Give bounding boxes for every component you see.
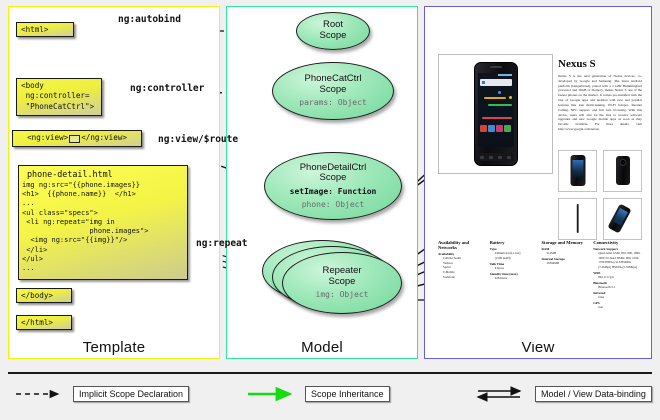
thumb-angled-icon: [607, 204, 631, 234]
legend-label-data-binding: Model / View Data-binding: [535, 386, 652, 402]
legend-divider: [8, 372, 652, 374]
spec-val-infrared: false: [598, 295, 642, 300]
spec-header-battery: Battery: [490, 240, 539, 245]
scope-repeater-title-2: Scope: [329, 277, 356, 288]
nav-button-3: [498, 156, 502, 159]
spec-val-gps: true: [598, 305, 642, 310]
thumbnail-grid: [558, 150, 642, 246]
panel-label-template: Template: [9, 339, 219, 356]
code-body-close[interactable]: </body>: [16, 288, 72, 303]
legend-label-implicit-scope: Implicit Scope Declaration: [73, 386, 189, 402]
spec-val-bluetooth: Bluetooth 2.1: [598, 285, 642, 290]
product-title: Nexus S: [558, 58, 596, 70]
phone-screen: [478, 73, 514, 147]
legend-item-scope-inheritance: Scope Inheritance: [246, 386, 390, 402]
green-arrow-icon: [246, 386, 298, 402]
spec-val-internal: 16384MB: [547, 261, 591, 266]
legend: Implicit Scope Declaration Scope Inherit…: [8, 372, 652, 412]
double-arrow-icon: [476, 386, 528, 402]
spec-val-network: Quad-band GSM: 850, 900, 1800, 1900 Tri-…: [598, 251, 642, 270]
thumbnail-phone-front[interactable]: [558, 150, 597, 192]
thumbnail-row-2: [558, 198, 642, 240]
screen-bar-orange: [484, 97, 506, 99]
edge-label-repeat: ng:repeat: [196, 238, 247, 249]
legend-item-implicit-scope: Implicit Scope Declaration: [14, 386, 189, 402]
scope-cat-prop-params: params: Object: [299, 98, 366, 108]
thumb-edge-icon: [576, 204, 579, 233]
thumbnail-phone-back[interactable]: [603, 150, 642, 192]
scope-detail-prop-phone: phone: Object: [302, 200, 365, 210]
main-phone-photo[interactable]: [438, 54, 553, 174]
app-icon-3: [496, 125, 503, 132]
thumb-front-icon: [570, 155, 585, 186]
phone-speaker: [490, 66, 502, 68]
specs-table: Availability and Networks Availability C…: [438, 240, 642, 310]
phone-device-illustration: [474, 62, 518, 166]
spec-header-availability: Availability and Networks: [438, 240, 487, 250]
legend-label-scope-inheritance: Scope Inheritance: [305, 386, 390, 402]
scope-repeater-prop-img: img: Object: [316, 290, 369, 300]
edge-label-route: ng:view/$route: [158, 134, 238, 145]
spec-val-availability-4: Vodafone: [443, 275, 487, 280]
screen-dot-blue: [498, 91, 501, 94]
screen-bar-red: [482, 117, 512, 119]
nav-button-1: [480, 156, 484, 159]
spec-val-wifi: 802.11 b/g/n: [598, 275, 642, 280]
rendered-view-page: Nexus S Nexus S is the next generation o…: [430, 12, 646, 342]
spec-column-connectivity: Connectivity Network Support Quad-band G…: [593, 240, 642, 310]
scope-detail-prop-setimage: setImage: Function: [290, 187, 377, 197]
code-ngview[interactable]: <ng:view> </ng:view>: [12, 130, 142, 147]
ngview-close-tag: </ng:view>: [81, 133, 127, 143]
app-icon-4: [504, 125, 511, 132]
spec-column-battery: Battery Type Lithium Ion (Li-Ion) (1500 …: [490, 240, 539, 310]
scope-detail-title-2: Scope: [320, 173, 347, 184]
spec-val-battery-talk: 6 hours: [495, 266, 539, 271]
thumbnail-row-1: [558, 150, 642, 192]
spec-column-storage: Storage and Memory RAM 512MB Internal St…: [542, 240, 591, 310]
edge-label-autobind: ng:autobind: [118, 14, 181, 25]
spec-column-availability: Availability and Networks Availability C…: [438, 240, 487, 310]
ngview-open-tag: <ng:view>: [27, 133, 68, 143]
legend-item-data-binding: Model / View Data-binding: [476, 386, 652, 402]
scope-root[interactable]: Root Scope: [296, 12, 370, 50]
screen-bar-green: [488, 104, 512, 106]
thumbnail-phone-angled[interactable]: [603, 198, 642, 240]
app-icon-1: [480, 125, 487, 132]
thumbnail-phone-edge[interactable]: [558, 198, 597, 240]
nav-button-2: [489, 156, 493, 159]
screen-dot-yellow: [509, 96, 512, 99]
spec-header-connectivity: Connectivity: [593, 240, 642, 245]
note-title: phone-detail.html: [19, 166, 187, 181]
search-widget: [480, 79, 512, 86]
diagram-root: Template <html> <body ng:controller= "Ph…: [0, 0, 660, 420]
code-html-open[interactable]: <html>: [16, 22, 74, 37]
spec-val-ram: 512MB: [547, 251, 591, 256]
spec-val-battery-type-1: (1500 mAH): [495, 256, 539, 261]
ngview-slot-icon: [69, 135, 80, 143]
app-icon-2: [488, 125, 495, 132]
spec-val-battery-standby: 428 hours: [495, 276, 539, 281]
status-bar-icons: [498, 74, 512, 76]
edge-label-controller: ng:controller: [130, 83, 204, 94]
note-code: img ng:src="{{phone.images}} <h1> {{phon…: [19, 181, 187, 273]
dashed-arrow-icon: [14, 386, 66, 402]
code-body-open[interactable]: <body ng:controller= "PhoneCatCtrl">: [16, 78, 102, 116]
panel-label-model: Model: [227, 339, 417, 356]
product-description: Nexus S is the next generation of Nexus …: [558, 74, 642, 132]
scope-cat-title-2: Scope: [320, 85, 347, 96]
scope-phonedetailctrl[interactable]: PhoneDetailCtrl Scope setImage: Function…: [264, 152, 402, 220]
scope-root-title-2: Scope: [320, 31, 347, 42]
spec-header-storage: Storage and Memory: [542, 240, 591, 245]
code-html-close[interactable]: </html>: [16, 315, 72, 330]
nav-button-4: [507, 156, 511, 159]
thumb-back-icon: [616, 156, 630, 185]
note-phone-detail-html[interactable]: phone-detail.html img ng:src="{{phone.im…: [18, 165, 188, 280]
app-icon-row: [480, 125, 512, 137]
scope-repeater[interactable]: Repeater Scope img: Object: [282, 252, 402, 314]
scope-phonecatctrl[interactable]: PhoneCatCtrl Scope params: Object: [272, 62, 394, 120]
phone-nav-bar: [478, 153, 514, 161]
